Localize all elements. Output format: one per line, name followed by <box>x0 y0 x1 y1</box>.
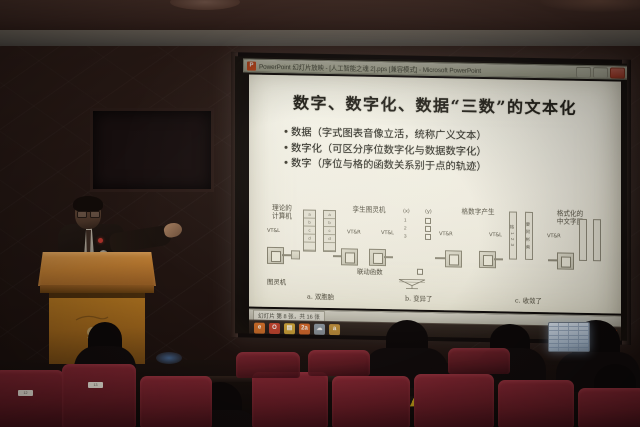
diagram-row-number: 1 <box>404 217 407 222</box>
diagram-tape-label: VT&L <box>381 230 394 236</box>
balance-scale-icon <box>397 277 427 290</box>
diagram-tape-label: VT&R <box>547 233 561 239</box>
ceiling-glow <box>540 0 640 12</box>
diagram-tape-label: VT&R <box>439 231 453 237</box>
diagram-checkbox <box>425 234 431 240</box>
wall-acoustic-panel <box>90 108 214 192</box>
diagram-group-label: 孪生图灵机 <box>343 206 395 215</box>
seat <box>578 388 640 427</box>
presenter-hand <box>163 221 184 239</box>
podium-lip <box>40 285 154 293</box>
diagram-connector <box>333 255 341 257</box>
caption-text: 双胞胎 <box>315 293 334 301</box>
seat-number-tag: 12 <box>18 390 33 396</box>
diagram-tape-label: VT&L <box>489 232 502 238</box>
lecture-hall-scene: P PowerPoint 幻灯片放映 - [人工智能之魂 2].pps [兼容模… <box>0 0 640 427</box>
lapel-badge <box>98 238 103 243</box>
diagram-left-label: 图灵机 <box>267 277 286 286</box>
minimize-button[interactable] <box>576 66 591 77</box>
glasses-icon <box>77 211 99 216</box>
diagram-machine <box>557 252 574 269</box>
seat <box>0 370 64 427</box>
seat-number-tag: 13 <box>88 382 103 388</box>
diagram-caption: a. 双胞胎 <box>307 292 334 302</box>
diagram-group-label: 格数字产生 <box>453 208 503 217</box>
diagram-connector <box>494 258 503 260</box>
caption-text: 变异了 <box>413 295 432 303</box>
podium-stripe <box>49 293 145 298</box>
diagram-connector <box>435 257 445 259</box>
projected-desktop: P PowerPoint 幻灯片放映 - [人工智能之魂 2].pps [兼容模… <box>235 56 627 341</box>
seat <box>498 380 574 427</box>
caption-key: b <box>405 295 409 303</box>
diagram-tape-label: VT&L <box>267 228 280 234</box>
window-controls[interactable] <box>576 66 625 78</box>
diagram-caption: b. 变异了 <box>405 294 432 304</box>
seat <box>308 350 370 376</box>
ceiling <box>0 0 640 32</box>
slide-diagram: 理论的 计算机 孪生图灵机 格数字产生 格式化的 中文字屋 (x) (y) 1 … <box>257 203 613 310</box>
diagram-checkbox <box>417 269 423 275</box>
close-button[interactable] <box>610 67 625 78</box>
seat <box>62 364 136 427</box>
diagram-connector <box>384 256 393 258</box>
diagram-vertical-tape: 要 阿 彬 南 <box>525 212 533 260</box>
diagram-connector <box>282 254 291 256</box>
caption-key: c <box>515 297 519 305</box>
projection-screen: P PowerPoint 幻灯片放映 - [人工智能之魂 2].pps [兼容模… <box>231 52 631 345</box>
laptop-glow <box>156 352 182 364</box>
powerpoint-slide[interactable]: 数字、数字化、数据“三数”的文本化 •数据（字式图表音像立活，统称广义文本） •… <box>249 75 621 314</box>
laptop-screen[interactable] <box>548 322 590 352</box>
seat <box>252 372 328 427</box>
diagram-row-number: 3 <box>404 233 407 238</box>
diagram-group-label: 格式化的 中文字屋 <box>545 210 595 226</box>
ceiling-light <box>170 0 240 10</box>
slide-bullet-list: •数据（字式图表音像立活，统称广义文本） •数字化（可区分序位数字化与数据数字化… <box>283 125 621 178</box>
bullet-text: 数据（字式图表音像立活，统称广义文本） <box>291 126 487 142</box>
diagram-vertical-tape: 格 1 2 3 <box>509 211 517 259</box>
diagram-tape: abcd <box>303 210 316 252</box>
slide-title: 数字、数字化、数据“三数”的文本化 <box>249 89 621 120</box>
diagram-node <box>291 250 300 259</box>
diagram-tape: abcd <box>323 210 336 252</box>
bullet-marker: • <box>283 141 291 157</box>
diagram-machine <box>445 250 462 267</box>
diagram-machine <box>341 248 358 265</box>
diagram-vertical-tape <box>593 219 601 261</box>
diagram-caption: c. 收敛了 <box>515 296 542 306</box>
caption-text: 收敛了 <box>523 297 542 305</box>
diagram-checkbox <box>425 226 431 232</box>
diagram-connector <box>548 259 557 261</box>
maximize-button[interactable] <box>593 67 608 78</box>
seat <box>236 352 300 378</box>
podium-top <box>38 252 156 286</box>
bullet-text: 数字（序位与格的函数关系别于点的轨迹） <box>291 157 487 173</box>
diagram-column-header: (y) <box>425 209 432 215</box>
diagram-row-number: 2 <box>404 225 407 230</box>
diagram-column-header: (x) <box>403 208 410 214</box>
audience-area: 12 13 <box>0 318 640 427</box>
bullet-marker: • <box>283 156 291 172</box>
seat <box>448 348 510 374</box>
bullet-marker: • <box>283 125 291 141</box>
window-title: PowerPoint 幻灯片放映 - [人工智能之魂 2].pps [兼容模式]… <box>259 61 573 76</box>
diagram-group-label: 理论的 计算机 <box>265 205 299 221</box>
seat <box>332 376 410 427</box>
diagram-vertical-tape <box>579 219 587 261</box>
powerpoint-icon: P <box>247 61 256 70</box>
bullet-text: 数字化（可区分序位数字化与数据数字化） <box>291 142 487 158</box>
diagram-mid-label: 联动函数 <box>357 267 383 276</box>
diagram-tape-label: VT&R <box>347 229 361 235</box>
seat <box>414 374 494 427</box>
diagram-checkbox <box>425 218 431 224</box>
presenter-hair <box>73 196 103 212</box>
seat <box>140 376 212 427</box>
caption-key: a <box>307 293 311 301</box>
